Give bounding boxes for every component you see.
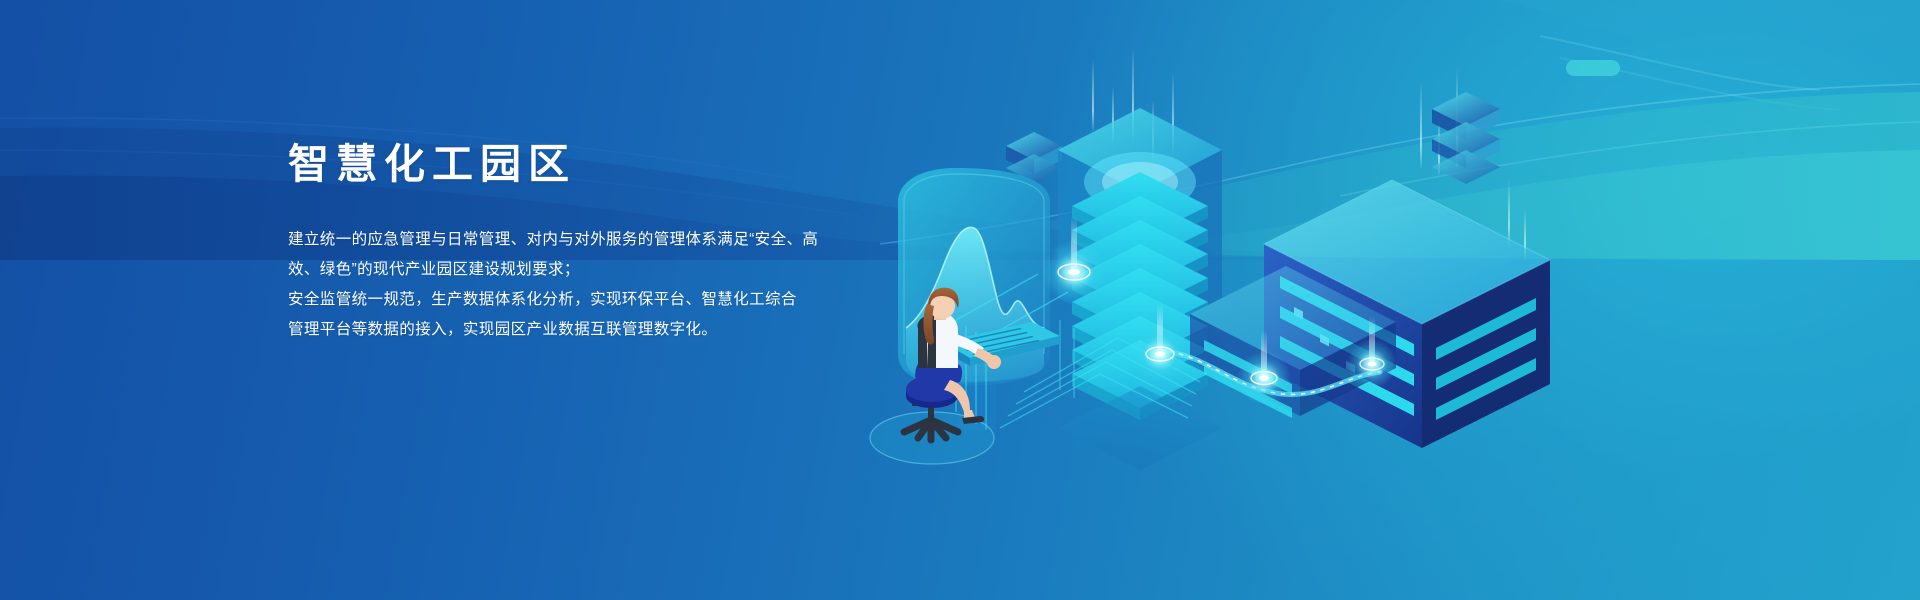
description-line: 安全监管统一规范，生产数据体系化分析，实现环保平台、智慧化工综合 (288, 285, 908, 315)
smart-park-illustration (860, 20, 1620, 460)
decor-pill (1566, 60, 1620, 76)
description-line: 建立统一的应急管理与日常管理、对内与对外服务的管理体系满足“安全、高 (288, 225, 908, 255)
page-title: 智慧化工园区 (288, 140, 908, 189)
banner-description: 建立统一的应急管理与日常管理、对内与对外服务的管理体系满足“安全、高 效、绿色”… (288, 225, 908, 345)
description-line: 效、绿色”的现代产业园区建设规划要求； (288, 255, 908, 285)
banner-text-block: 智慧化工园区 建立统一的应急管理与日常管理、对内与对外服务的管理体系满足“安全、… (288, 140, 908, 345)
description-line: 管理平台等数据的接入，实现园区产业数据互联管理数字化。 (288, 315, 908, 345)
hero-banner: 智慧化工园区 建立统一的应急管理与日常管理、对内与对外服务的管理体系满足“安全、… (0, 0, 1920, 600)
floating-isometric-cube-stack (1432, 92, 1500, 184)
